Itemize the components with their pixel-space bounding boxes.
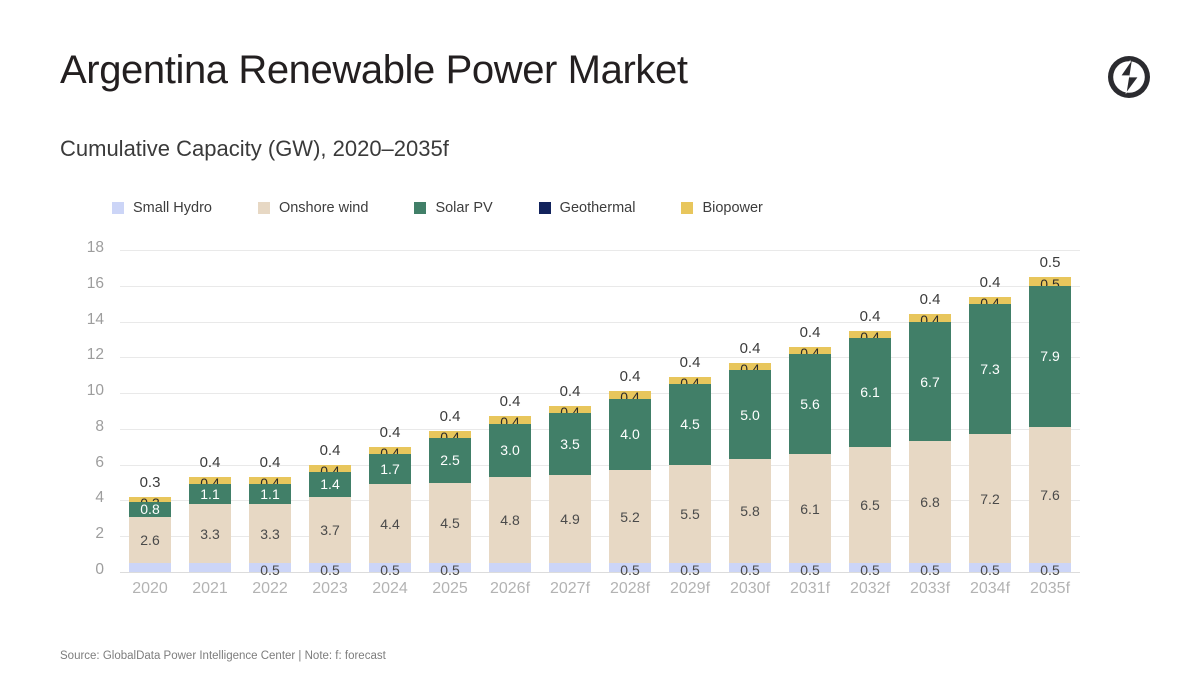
x-axis-tick-label: 2026f [480,580,540,598]
bar-segment-value: 6.7 [920,375,939,389]
legend-item-geothermal[interactable]: Geothermal [539,200,636,216]
bar-segment-value: 4.5 [680,417,699,431]
chart-legend: Small HydroOnshore windSolar PVGeotherma… [112,198,809,218]
plot-area: 0.30.30.82.60.40.41.13.30.40.41.13.30.50… [120,250,1080,572]
page-title: Argentina Renewable Power Market [60,48,688,93]
bar-column[interactable]: 0.40.43.04.8 [480,250,540,572]
bar-column[interactable]: 0.40.43.54.9 [540,250,600,572]
bar-segment-small-hydro[interactable]: 0.5 [249,563,291,572]
x-axis-tick-label: 2021 [180,580,240,598]
x-axis-tick-label: 2034f [960,580,1020,598]
bar-segment-value: 2.6 [140,533,159,547]
stacked-bar[interactable]: 0.40.41.13.3 [189,477,231,572]
bar-segment-biopower[interactable]: 0.4 [609,391,651,398]
bar-segment-onshore-wind[interactable]: 7.6 [1029,427,1071,563]
bar-segment-solar-pv[interactable]: 3.5 [549,413,591,476]
legend-item-onshore-wind[interactable]: Onshore wind [258,200,368,216]
chart-page: Argentina Renewable Power Market Cumulat… [0,0,1200,675]
x-axis-tick-label: 2020 [120,580,180,598]
bar-column[interactable]: 0.40.45.66.10.5 [780,250,840,572]
x-axis-tick-label: 2024 [360,580,420,598]
bar-segment-onshore-wind[interactable]: 4.4 [369,484,411,563]
bar-segment-small-hydro[interactable]: 0.5 [369,563,411,572]
bar-segment-value: 0.5 [800,563,819,577]
bar-top-label: 0.4 [500,393,521,410]
bar-segment-onshore-wind[interactable]: 2.6 [129,517,171,564]
legend-label: Geothermal [560,200,636,216]
bar-segment-solar-pv[interactable]: 6.1 [849,338,891,447]
bar-segment-value: 1.4 [320,477,339,491]
stacked-bar[interactable]: 0.40.46.16.50.5 [849,331,891,572]
bar-top-label: 0.4 [620,368,641,385]
bar-segment-value: 5.8 [740,504,759,518]
bar-segment-value: 3.7 [320,523,339,537]
legend-label: Biopower [702,200,762,216]
bar-segment-value: 3.0 [500,443,519,457]
bar-segment-solar-pv[interactable]: 1.1 [249,484,291,504]
bar-segment-value: 0.5 [1040,563,1059,577]
bar-column[interactable]: 0.40.41.74.40.5 [360,250,420,572]
bar-segment-value: 1.1 [200,487,219,501]
bar-segment-value: 7.9 [1040,349,1059,363]
bar-column[interactable]: 0.40.46.16.50.5 [840,250,900,572]
legend-item-small-hydro[interactable]: Small Hydro [112,200,212,216]
y-axis-labels: 024681012141618 [62,250,104,572]
stacked-bar[interactable]: 0.40.43.54.9 [549,406,591,572]
y-axis-tick-label: 2 [62,526,104,542]
bar-segment-solar-pv[interactable]: 4.0 [609,399,651,471]
bar-segment-solar-pv[interactable]: 7.9 [1029,286,1071,427]
y-axis-tick-label: 14 [62,312,104,328]
bar-segment-value: 3.5 [560,437,579,451]
bar-segment-biopower[interactable]: 0.4 [489,416,531,423]
bar-segment-value: 1.7 [380,462,399,476]
x-axis-tick-label: 2028f [600,580,660,598]
bar-segment-small-hydro[interactable]: 0.5 [789,563,831,572]
bar-segment-solar-pv[interactable]: 0.8 [129,502,171,516]
y-axis-tick-label: 12 [62,347,104,363]
stacked-bar[interactable]: 0.30.30.82.6 [129,497,171,572]
bar-segment-value: 0.5 [620,563,639,577]
source-note: Source: GlobalData Power Intelligence Ce… [60,650,386,662]
bar-segment-onshore-wind[interactable]: 4.9 [549,475,591,563]
stacked-bar[interactable]: 0.40.45.66.10.5 [789,347,831,572]
x-axis-tick-label: 2027f [540,580,600,598]
bar-segment-value: 3.3 [260,527,279,541]
bar-segment-onshore-wind[interactable]: 4.8 [489,477,531,563]
bar-segment-value: 5.5 [680,507,699,521]
y-axis-tick-label: 8 [62,419,104,435]
y-axis-tick-label: 10 [62,383,104,399]
bar-segment-biopower[interactable]: 0.4 [969,297,1011,304]
bar-top-label: 0.5 [1040,254,1061,271]
bar-segment-biopower[interactable]: 0.4 [549,406,591,413]
bar-top-label: 0.4 [800,324,821,341]
bar-segment-solar-pv[interactable]: 1.7 [369,454,411,484]
bar-segment-small-hydro[interactable]: 0.5 [429,563,471,572]
bar-segment-value: 5.2 [620,510,639,524]
bar-segment-value: 6.1 [860,385,879,399]
bar-segment-value: 5.6 [800,397,819,411]
bar-segment-value: 0.5 [740,563,759,577]
x-axis-tick-label: 2023 [300,580,360,598]
bar-segment-onshore-wind[interactable]: 6.8 [909,441,951,563]
bar-segment-onshore-wind[interactable]: 5.5 [669,465,711,563]
bar-segment-biopower[interactable]: 0.4 [189,477,231,484]
bar-column[interactable]: 0.50.50.017.97.60.5 [1020,250,1080,572]
legend-swatch-icon [258,202,270,214]
bar-segment-value: 5.0 [740,408,759,422]
bar-segment-solar-pv[interactable]: 5.6 [789,354,831,454]
bar-segment-small-hydro[interactable] [549,563,591,572]
bar-top-label: 0.4 [920,291,941,308]
bar-segment-value: 6.5 [860,498,879,512]
x-axis-tick-label: 2031f [780,580,840,598]
stacked-bar[interactable]: 0.40.41.74.40.5 [369,447,411,572]
bar-column[interactable]: 0.40.41.43.70.5 [300,250,360,572]
bar-column[interactable]: 0.40.47.37.20.5 [960,250,1020,572]
stacked-bar[interactable]: 0.40.42.54.50.5 [429,431,471,572]
bar-column[interactable]: 0.40.45.05.80.5 [720,250,780,572]
legend-swatch-icon [681,202,693,214]
bar-column[interactable]: 0.40.41.13.30.5 [240,250,300,572]
legend-swatch-icon [539,202,551,214]
y-axis-tick-label: 6 [62,455,104,471]
bar-top-label: 0.4 [680,354,701,371]
bar-top-label: 0.4 [200,454,221,471]
bar-segment-value: 0.5 [680,563,699,577]
bar-segment-value: 4.4 [380,517,399,531]
legend-label: Onshore wind [279,200,368,216]
bar-top-label: 0.4 [320,442,341,459]
bar-segment-onshore-wind[interactable]: 3.7 [309,497,351,563]
bar-segment-value: 4.5 [440,516,459,530]
bar-segment-biopower[interactable]: 0.4 [309,465,351,472]
bar-column[interactable]: 0.40.46.76.80.5 [900,250,960,572]
bar-segment-value: 0.8 [140,502,159,516]
bar-segment-onshore-wind[interactable]: 4.5 [429,483,471,564]
legend-item-biopower[interactable]: Biopower [681,200,762,216]
bar-segment-value: 6.8 [920,495,939,509]
bar-segment-small-hydro[interactable] [189,563,231,572]
legend-label: Solar PV [435,200,492,216]
stacked-bar[interactable]: 0.40.47.37.20.5 [969,297,1011,572]
y-axis-tick-label: 18 [62,240,104,256]
bar-top-label: 0.4 [560,383,581,400]
bar-segment-value: 7.2 [980,492,999,506]
bar-column[interactable]: 0.30.30.82.6 [120,250,180,572]
bar-segment-value: 0.5 [860,563,879,577]
bar-segment-value: 0.5 [380,563,399,577]
bar-segment-small-hydro[interactable]: 0.5 [849,563,891,572]
x-axis-tick-label: 2030f [720,580,780,598]
bar-segment-small-hydro[interactable]: 0.5 [669,563,711,572]
stacked-bar[interactable]: 0.40.44.05.20.5 [609,391,651,572]
bar-segment-value: 0.5 [260,563,279,577]
bar-segment-solar-pv[interactable]: 7.3 [969,304,1011,435]
bar-group: 0.30.30.82.60.40.41.13.30.40.41.13.30.50… [120,250,1080,572]
bar-segment-value: 0.5 [320,563,339,577]
bar-segment-biopower[interactable]: 0.4 [249,477,291,484]
bar-segment-solar-pv[interactable]: 6.7 [909,322,951,442]
bar-segment-solar-pv[interactable]: 2.5 [429,438,471,483]
legend-item-solar-pv[interactable]: Solar PV [414,200,492,216]
bar-segment-solar-pv[interactable]: 5.0 [729,370,771,459]
bar-segment-onshore-wind[interactable]: 5.8 [729,459,771,563]
bar-segment-small-hydro[interactable]: 0.5 [969,563,1011,572]
y-axis-tick-label: 16 [62,276,104,292]
bar-column[interactable]: 0.40.42.54.50.5 [420,250,480,572]
bar-segment-biopower[interactable]: 0.4 [789,347,831,354]
bar-segment-small-hydro[interactable]: 0.5 [729,563,771,572]
y-axis-tick-label: 0 [62,562,104,578]
bar-segment-solar-pv[interactable]: 1.4 [309,472,351,497]
chart-subtitle: Cumulative Capacity (GW), 2020–2035f [60,136,449,162]
bar-column[interactable]: 0.40.44.55.50.5 [660,250,720,572]
bar-segment-small-hydro[interactable] [129,563,171,572]
bar-segment-onshore-wind[interactable]: 6.1 [789,454,831,563]
stacked-bar[interactable]: 0.40.45.05.80.5 [729,363,771,572]
bar-segment-value: 0.5 [920,563,939,577]
bar-segment-onshore-wind[interactable]: 3.3 [189,504,231,563]
bar-segment-small-hydro[interactable]: 0.5 [909,563,951,572]
bar-segment-small-hydro[interactable]: 0.5 [309,563,351,572]
bar-segment-small-hydro[interactable] [489,563,531,572]
x-axis-labels: 2020202120222023202420252026f2027f2028f2… [120,580,1080,598]
x-axis-tick-label: 2022 [240,580,300,598]
bar-segment-small-hydro[interactable]: 0.5 [609,563,651,572]
legend-swatch-icon [414,202,426,214]
stacked-bar[interactable]: 0.50.50.017.97.60.5 [1029,277,1071,572]
bar-segment-biopower[interactable]: 0.4 [369,447,411,454]
legend-swatch-icon [112,202,124,214]
x-axis-tick-label: 2029f [660,580,720,598]
bar-segment-solar-pv[interactable]: 4.5 [669,384,711,465]
x-axis-tick-label: 2035f [1020,580,1080,598]
stacked-bar[interactable]: 0.40.41.13.30.5 [249,477,291,572]
bar-segment-small-hydro[interactable]: 0.5 [1029,563,1071,572]
bar-segment-biopower[interactable]: 0.4 [669,377,711,384]
bar-segment-biopower[interactable]: 0.4 [909,314,951,321]
stacked-bar[interactable]: 0.40.41.43.70.5 [309,465,351,572]
bar-top-label: 0.3 [140,474,161,491]
bar-segment-value: 0.5 [980,563,999,577]
bar-segment-value: 4.0 [620,427,639,441]
bar-segment-value: 4.8 [500,513,519,527]
bar-segment-solar-pv[interactable]: 1.1 [189,484,231,504]
x-axis-tick-label: 2033f [900,580,960,598]
bar-segment-value: 1.1 [260,487,279,501]
globaldata-logo [1106,54,1152,100]
bar-top-label: 0.4 [380,424,401,441]
bar-column[interactable]: 0.40.41.13.3 [180,250,240,572]
bar-top-label: 0.4 [440,408,461,425]
bar-segment-onshore-wind[interactable]: 3.3 [249,504,291,563]
bar-segment-biopower[interactable]: 0.4 [729,363,771,370]
bar-segment-solar-pv[interactable]: 3.0 [489,424,531,478]
bar-segment-value: 4.9 [560,512,579,526]
bar-segment-biopower[interactable]: 0.4 [849,331,891,338]
bar-segment-value: 7.3 [980,362,999,376]
bar-segment-onshore-wind[interactable]: 6.5 [849,447,891,563]
bar-top-label: 0.4 [980,274,1001,291]
stacked-bar[interactable]: 0.40.46.76.80.5 [909,314,951,572]
stacked-bar[interactable]: 0.40.44.55.50.5 [669,377,711,572]
bar-top-label: 0.4 [740,340,761,357]
bar-segment-value: 0.5 [440,563,459,577]
bar-segment-biopower[interactable]: 0.4 [429,431,471,438]
stacked-bar[interactable]: 0.40.43.04.8 [489,416,531,572]
bar-segment-value: 6.1 [800,502,819,516]
x-axis-tick-label: 2032f [840,580,900,598]
bar-segment-onshore-wind[interactable]: 7.2 [969,434,1011,563]
y-axis-tick-label: 4 [62,490,104,506]
legend-label: Small Hydro [133,200,212,216]
bar-segment-value: 7.6 [1040,488,1059,502]
bar-segment-onshore-wind[interactable]: 5.2 [609,470,651,563]
bar-top-label: 0.4 [860,308,881,325]
bar-segment-value: 3.3 [200,527,219,541]
x-axis-tick-label: 2025 [420,580,480,598]
bar-top-label: 0.4 [260,454,281,471]
bar-column[interactable]: 0.40.44.05.20.5 [600,250,660,572]
bar-segment-value: 2.5 [440,453,459,467]
